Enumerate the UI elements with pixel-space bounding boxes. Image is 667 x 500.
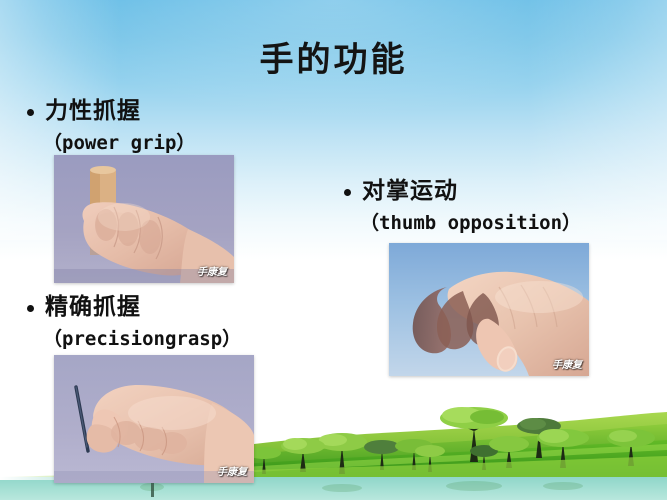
bullet-power-grip-row: 力性抓握 bbox=[27, 96, 195, 126]
photo-watermark: 手康复 bbox=[552, 356, 582, 371]
bullet-thumb-opposition-chinese: 对掌运动 bbox=[362, 176, 458, 206]
power-grip-photo: 手康复 bbox=[54, 155, 234, 283]
bullet-precision-grasp-english: （precisiongrasp） bbox=[43, 325, 241, 353]
bullet-precision-grasp-row: 精确抓握 bbox=[27, 292, 241, 322]
precision-grasp-photo: 手康复 bbox=[54, 355, 254, 483]
photo-stand-stem bbox=[151, 483, 154, 497]
bullet-thumb-opposition-english: （thumb opposition） bbox=[360, 209, 581, 237]
thumb-opposition-photo: 手康复 bbox=[389, 243, 589, 376]
bullet-dot-icon bbox=[27, 109, 34, 116]
page-title: 手的功能 bbox=[0, 38, 667, 82]
bullet-dot-icon bbox=[344, 189, 351, 196]
bullet-precision-grasp: 精确抓握 （precisiongrasp） bbox=[27, 292, 241, 353]
bullet-precision-grasp-chinese: 精确抓握 bbox=[45, 292, 141, 322]
photo-watermark: 手康复 bbox=[217, 463, 247, 478]
bullet-power-grip: 力性抓握 （power grip） bbox=[27, 96, 195, 157]
photo-watermark: 手康复 bbox=[197, 263, 227, 278]
bullet-thumb-opposition: 对掌运动 （thumb opposition） bbox=[344, 176, 581, 237]
bullet-dot-icon bbox=[27, 305, 34, 312]
bullet-power-grip-chinese: 力性抓握 bbox=[45, 96, 141, 126]
slide-canvas: 手的功能 力性抓握 （power grip） 精确抓握 （precisiongr… bbox=[0, 0, 667, 500]
bullet-power-grip-english: （power grip） bbox=[43, 129, 195, 157]
bullet-thumb-opposition-row: 对掌运动 bbox=[344, 176, 581, 206]
